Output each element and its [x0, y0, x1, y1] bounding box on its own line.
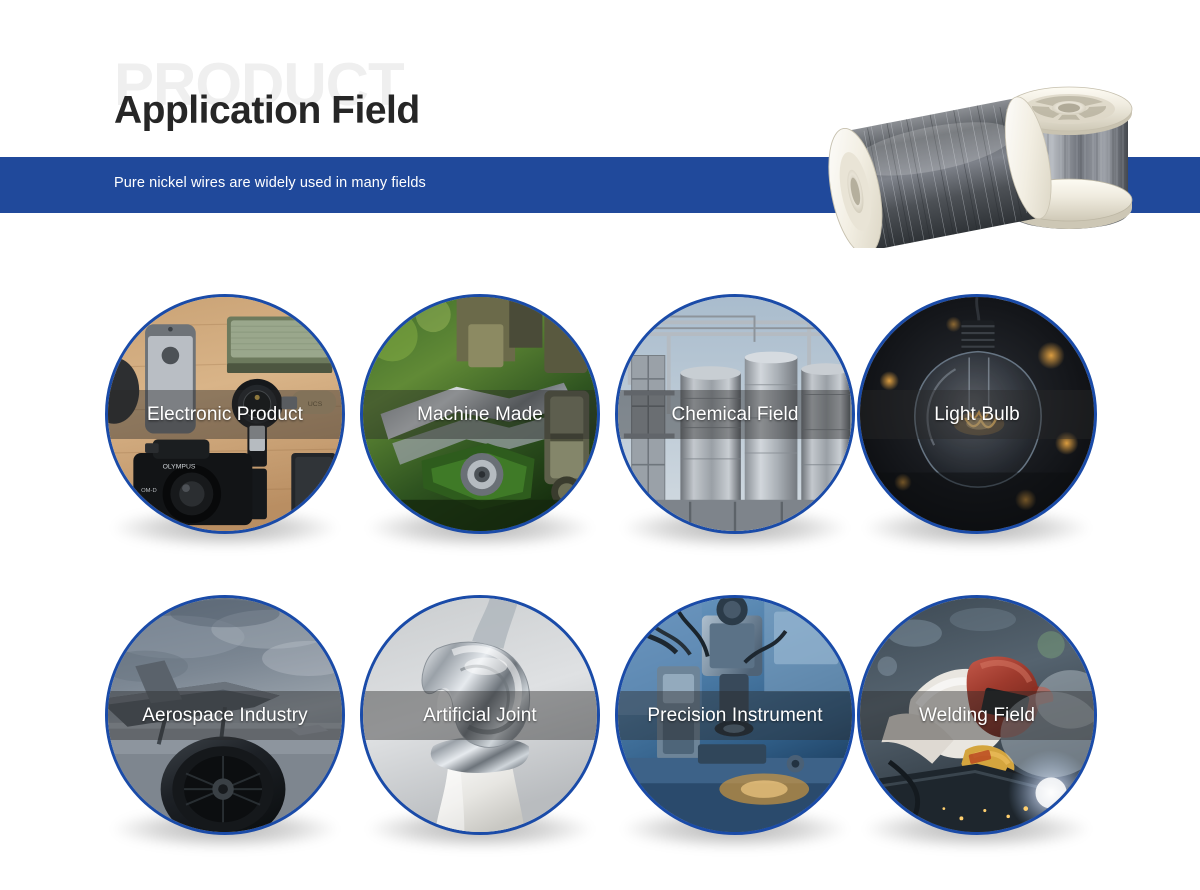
card-label-band: Chemical Field	[618, 390, 852, 439]
application-card-aerospace-industry[interactable]: Aerospace Industry	[105, 595, 345, 835]
application-card-light-bulb[interactable]: Light Bulb	[857, 294, 1097, 534]
card-label-band: Electronic Product	[108, 390, 342, 439]
card-label-band: Aerospace Industry	[108, 691, 342, 740]
card-label: Electronic Product	[147, 404, 303, 426]
card-disc: Chemical Field	[615, 294, 855, 534]
card-disc: Welding Field	[857, 595, 1097, 835]
application-card-electronic-product[interactable]: UCS OLYMPUS OM-D Electronic	[105, 294, 345, 534]
card-label: Aerospace Industry	[142, 705, 308, 727]
svg-text:OM-D: OM-D	[141, 488, 157, 494]
card-disc: Light Bulb	[857, 294, 1097, 534]
card-disc: Artificial Joint	[360, 595, 600, 835]
application-card-artificial-joint[interactable]: Artificial Joint	[360, 595, 600, 835]
card-disc: UCS OLYMPUS OM-D Electronic	[105, 294, 345, 534]
card-label: Welding Field	[919, 705, 1035, 727]
card-label-band: Machine Made	[363, 390, 597, 439]
card-label-band: Artificial Joint	[363, 691, 597, 740]
card-disc: Machine Made	[360, 294, 600, 534]
card-label: Light Bulb	[934, 404, 1020, 426]
application-card-chemical-field[interactable]: Chemical Field	[615, 294, 855, 534]
card-label-band: Light Bulb	[860, 390, 1094, 439]
application-card-machine-made[interactable]: Machine Made	[360, 294, 600, 534]
card-label-band: Precision Instrument	[618, 691, 852, 740]
card-label: Machine Made	[417, 404, 543, 426]
application-card-precision-instrument[interactable]: Precision Instrument	[615, 595, 855, 835]
card-label: Chemical Field	[671, 404, 798, 426]
svg-text:OLYMPUS: OLYMPUS	[163, 464, 196, 471]
card-disc: Precision Instrument	[615, 595, 855, 835]
card-label: Precision Instrument	[647, 705, 822, 727]
application-field-grid: UCS OLYMPUS OM-D Electronic	[0, 0, 1200, 890]
card-label-band: Welding Field	[860, 691, 1094, 740]
application-card-welding-field[interactable]: Welding Field	[857, 595, 1097, 835]
card-label: Artificial Joint	[423, 705, 537, 727]
card-disc: Aerospace Industry	[105, 595, 345, 835]
